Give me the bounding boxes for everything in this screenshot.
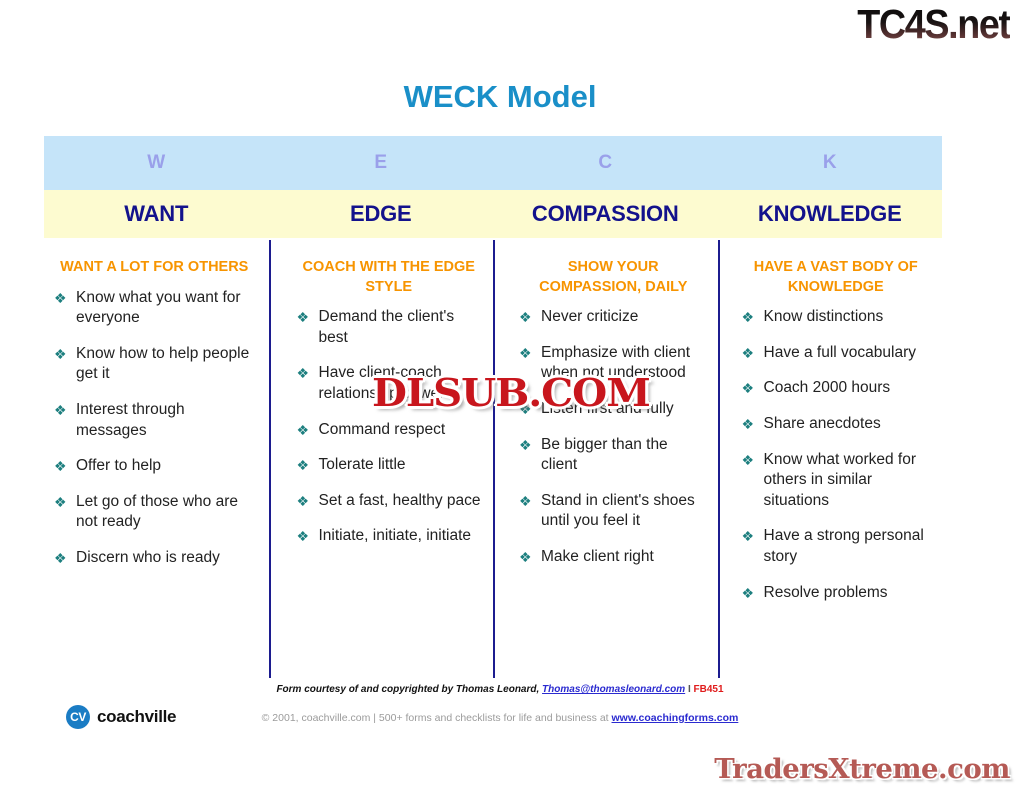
list-item-text: Interest through messages bbox=[76, 401, 185, 439]
tradersxtreme-logo: TradersXtreme.com bbox=[714, 754, 1010, 785]
list-item: ❖Have client-coach relationship power bbox=[297, 363, 482, 404]
letter-e: E bbox=[374, 152, 387, 174]
column-heading-want: WANT A LOT FOR OTHERS bbox=[54, 258, 255, 278]
list-item: ❖Coach 2000 hours bbox=[742, 378, 935, 399]
letter-cell-c: C bbox=[493, 136, 718, 190]
weck-table-header: W E C K WANT EDGE COMPASSION KNOWLEDGE bbox=[44, 136, 942, 238]
column-edge: COACH WITH THE EDGE STYLE ❖Demand the cl… bbox=[269, 240, 494, 678]
list-item: ❖Emphasize with client when not understo… bbox=[519, 343, 708, 384]
footer-form-code: FB451 bbox=[694, 684, 724, 695]
list-item-text: Demand the client's best bbox=[319, 308, 455, 346]
diamond-bullet-icon: ❖ bbox=[297, 491, 310, 511]
diamond-bullet-icon: ❖ bbox=[297, 363, 310, 383]
list-item-text: Share anecdotes bbox=[764, 415, 881, 432]
list-item-text: Have client-coach relationship power bbox=[319, 364, 445, 402]
list-item: ❖Share anecdotes bbox=[742, 414, 935, 435]
list-item-text: Have a strong personal story bbox=[764, 527, 924, 565]
diamond-bullet-icon: ❖ bbox=[519, 399, 532, 419]
word-cell-want: WANT bbox=[44, 190, 269, 238]
word-want: WANT bbox=[124, 201, 188, 227]
list-item-text: Coach 2000 hours bbox=[764, 379, 891, 396]
list-item: ❖Stand in client's shoes until you feel … bbox=[519, 491, 708, 532]
letter-cell-k: K bbox=[718, 136, 943, 190]
list-item: ❖Tolerate little bbox=[297, 455, 482, 476]
list-item-text: Know what you want for everyone bbox=[76, 289, 241, 327]
list-item-text: Set a fast, healthy pace bbox=[319, 492, 481, 509]
list-item-text: Emphasize with client when not understoo… bbox=[541, 344, 690, 382]
letters-row: W E C K bbox=[44, 136, 942, 190]
footer-copyright-prefix: © 2001, coachville.com | 500+ forms and … bbox=[262, 712, 612, 724]
diamond-bullet-icon: ❖ bbox=[54, 492, 67, 512]
footer-courtesy-line: Form courtesy of and copyrighted by Thom… bbox=[0, 684, 1000, 695]
diamond-bullet-icon: ❖ bbox=[742, 307, 755, 327]
diamond-bullet-icon: ❖ bbox=[742, 450, 755, 470]
diamond-bullet-icon: ❖ bbox=[519, 435, 532, 455]
column-want: WANT A LOT FOR OTHERS ❖Know what you wan… bbox=[44, 240, 269, 678]
diamond-bullet-icon: ❖ bbox=[54, 400, 67, 420]
diamond-bullet-icon: ❖ bbox=[297, 526, 310, 546]
list-item: ❖Initiate, initiate, initiate bbox=[297, 526, 482, 547]
list-item-text: Offer to help bbox=[76, 457, 161, 474]
word-edge: EDGE bbox=[350, 201, 412, 227]
diamond-bullet-icon: ❖ bbox=[742, 378, 755, 398]
diamond-bullet-icon: ❖ bbox=[519, 491, 532, 511]
words-row: WANT EDGE COMPASSION KNOWLEDGE bbox=[44, 190, 942, 238]
list-item: ❖Set a fast, healthy pace bbox=[297, 491, 482, 512]
list-item-text: Tolerate little bbox=[319, 456, 406, 473]
footer-email-link[interactable]: Thomas@thomasleonard.com bbox=[542, 684, 685, 695]
coachville-wordmark: coachville bbox=[97, 707, 176, 727]
diamond-bullet-icon: ❖ bbox=[519, 343, 532, 363]
letter-k: K bbox=[823, 152, 837, 174]
word-knowledge: KNOWLEDGE bbox=[758, 201, 902, 227]
list-item: ❖Know distinctions bbox=[742, 307, 935, 328]
list-item-text: Listen first and fully bbox=[541, 400, 674, 417]
column-compassion: SHOW YOUR COMPASSION, DAILY ❖Never criti… bbox=[493, 240, 718, 678]
diamond-bullet-icon: ❖ bbox=[297, 455, 310, 475]
list-item-text: Command respect bbox=[319, 421, 446, 438]
list-item: ❖Discern who is ready bbox=[54, 548, 255, 569]
list-item: ❖Offer to help bbox=[54, 456, 255, 477]
diamond-bullet-icon: ❖ bbox=[742, 414, 755, 434]
diamond-bullet-icon: ❖ bbox=[54, 548, 67, 568]
column-heading-compassion: SHOW YOUR COMPASSION, DAILY bbox=[519, 258, 708, 297]
list-item-text: Know distinctions bbox=[764, 308, 884, 325]
list-item-text: Have a full vocabulary bbox=[764, 344, 917, 361]
diamond-bullet-icon: ❖ bbox=[519, 307, 532, 327]
diamond-bullet-icon: ❖ bbox=[54, 456, 67, 476]
cv-badge-icon: CV bbox=[66, 705, 90, 729]
column-heading-knowledge: HAVE A VAST BODY OF KNOWLEDGE bbox=[738, 258, 935, 297]
list-item: ❖Resolve problems bbox=[742, 583, 935, 604]
letter-cell-w: W bbox=[44, 136, 269, 190]
bullet-list-edge: ❖Demand the client's best ❖Have client-c… bbox=[297, 307, 482, 547]
list-item: ❖Know what worked for others in similar … bbox=[742, 450, 935, 512]
footer-courtesy-prefix: Form courtesy of and copyrighted by Thom… bbox=[276, 684, 542, 695]
bullet-list-knowledge: ❖Know distinctions ❖Have a full vocabula… bbox=[742, 307, 935, 603]
list-item-text: Know how to help people get it bbox=[76, 345, 249, 383]
diamond-bullet-icon: ❖ bbox=[297, 307, 310, 327]
list-item-text: Stand in client's shoes until you feel i… bbox=[541, 492, 695, 530]
list-item-text: Initiate, initiate, initiate bbox=[319, 527, 472, 544]
diamond-bullet-icon: ❖ bbox=[742, 526, 755, 546]
list-item: ❖Command respect bbox=[297, 420, 482, 441]
list-item: ❖Never criticize bbox=[519, 307, 708, 328]
diamond-bullet-icon: ❖ bbox=[742, 583, 755, 603]
footer-site-link[interactable]: www.coachingforms.com bbox=[612, 712, 739, 724]
diamond-bullet-icon: ❖ bbox=[54, 344, 67, 364]
word-compassion: COMPASSION bbox=[532, 201, 679, 227]
list-item: ❖Know how to help people get it bbox=[54, 344, 255, 385]
letter-cell-e: E bbox=[269, 136, 494, 190]
list-item: ❖Interest through messages bbox=[54, 400, 255, 441]
bullet-list-want: ❖Know what you want for everyone ❖Know h… bbox=[54, 288, 255, 569]
list-item: ❖Have a full vocabulary bbox=[742, 343, 935, 364]
list-item-text: Be bigger than the client bbox=[541, 436, 668, 474]
list-item: ❖Have a strong personal story bbox=[742, 526, 935, 567]
bullet-list-compassion: ❖Never criticize ❖Emphasize with client … bbox=[519, 307, 708, 567]
diamond-bullet-icon: ❖ bbox=[54, 288, 67, 308]
letter-c: C bbox=[598, 152, 612, 174]
list-item-text: Make client right bbox=[541, 548, 654, 565]
column-knowledge: HAVE A VAST BODY OF KNOWLEDGE ❖Know dist… bbox=[718, 240, 943, 678]
list-item-text: Let go of those who are not ready bbox=[76, 493, 238, 531]
list-item-text: Never criticize bbox=[541, 308, 638, 325]
list-item: ❖Make client right bbox=[519, 547, 708, 568]
list-item: ❖Let go of those who are not ready bbox=[54, 492, 255, 533]
list-item-text: Resolve problems bbox=[764, 584, 888, 601]
page-title: WECK Model bbox=[0, 79, 1000, 115]
word-cell-knowledge: KNOWLEDGE bbox=[718, 190, 943, 238]
column-heading-edge: COACH WITH THE EDGE STYLE bbox=[297, 258, 482, 297]
word-cell-compassion: COMPASSION bbox=[493, 190, 718, 238]
diamond-bullet-icon: ❖ bbox=[519, 547, 532, 567]
list-item: ❖Know what you want for everyone bbox=[54, 288, 255, 329]
list-item: ❖Be bigger than the client bbox=[519, 435, 708, 476]
content-columns: WANT A LOT FOR OTHERS ❖Know what you wan… bbox=[44, 240, 942, 678]
word-cell-edge: EDGE bbox=[269, 190, 494, 238]
diamond-bullet-icon: ❖ bbox=[297, 420, 310, 440]
tc4s-logo: TC4S.net bbox=[858, 4, 1010, 45]
list-item-text: Know what worked for others in similar s… bbox=[764, 451, 917, 509]
list-item: ❖Listen first and fully bbox=[519, 399, 708, 420]
footer-separator: I bbox=[685, 684, 693, 695]
list-item: ❖Demand the client's best bbox=[297, 307, 482, 348]
list-item-text: Discern who is ready bbox=[76, 549, 220, 566]
letter-w: W bbox=[147, 152, 165, 174]
coachville-logo: CV coachville bbox=[66, 705, 176, 729]
diamond-bullet-icon: ❖ bbox=[742, 343, 755, 363]
